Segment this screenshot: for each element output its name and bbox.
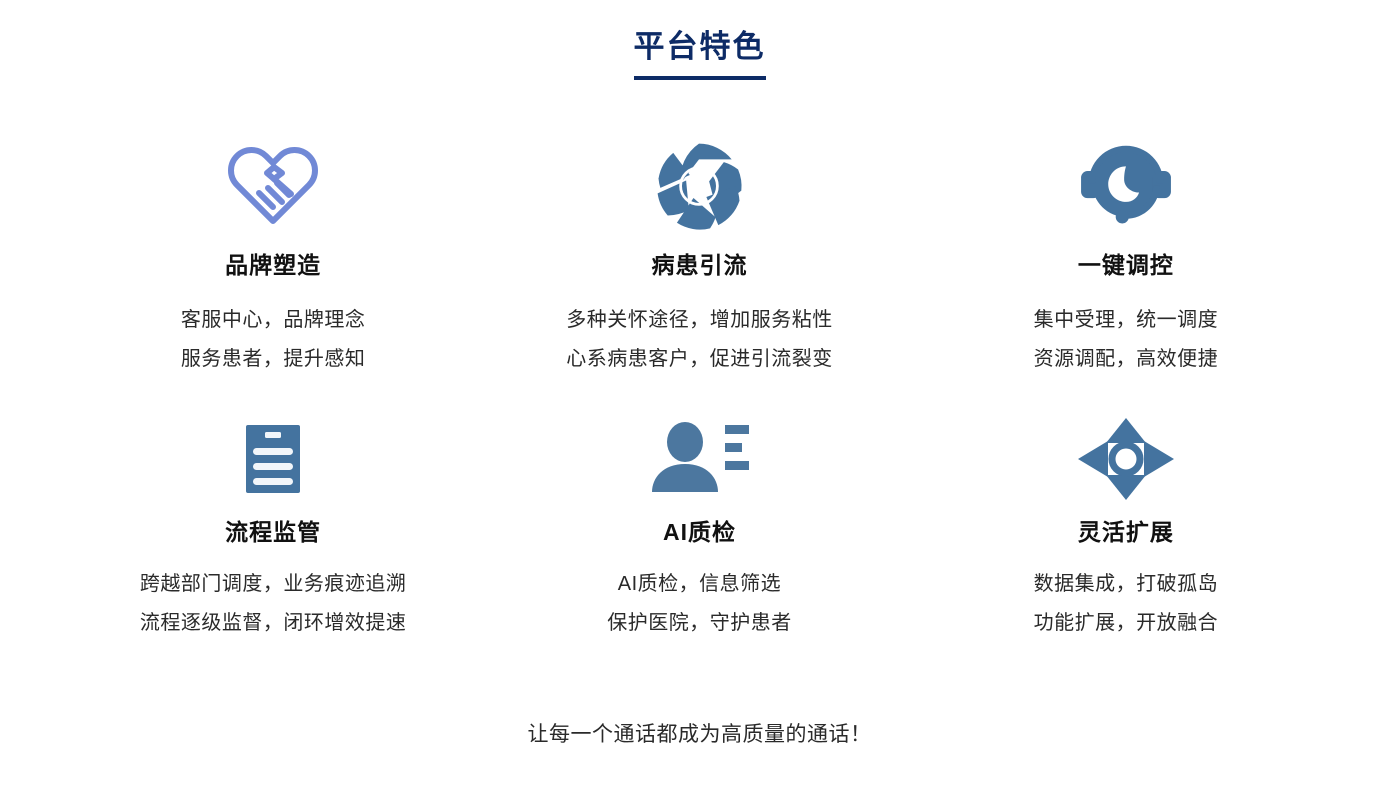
feature-card-process-supervision[interactable]: 流程监管 跨越部门调度，业务痕迹追溯 流程逐级监督，闭环增效提速 <box>60 415 486 643</box>
feature-desc-line: 保护医院，守护患者 <box>607 604 792 643</box>
feature-card-description: 数据集成，打破孤岛 功能扩展，开放融合 <box>1034 565 1219 643</box>
clipboard-icon <box>245 415 301 503</box>
feature-card-flexible-expansion[interactable]: 灵活扩展 数据集成，打破孤岛 功能扩展，开放融合 <box>913 415 1339 643</box>
feature-desc-line: 心系病患客户，促进引流裂变 <box>566 340 833 379</box>
feature-desc-line: 数据集成，打破孤岛 <box>1034 565 1219 604</box>
feature-desc-line: 流程逐级监督，闭环增效提速 <box>140 604 407 643</box>
handshake-heart-icon <box>225 138 321 234</box>
feature-card-description: 跨越部门调度，业务痕迹追溯 流程逐级监督，闭环增效提速 <box>140 565 407 643</box>
feature-card-title: 灵活扩展 <box>1078 519 1174 547</box>
feature-desc-line: 跨越部门调度，业务痕迹追溯 <box>140 565 407 604</box>
feature-desc-line: 集中受理，统一调度 <box>1034 301 1219 340</box>
page-title: 平台特色 <box>634 28 766 80</box>
feature-card-patient-flow[interactable]: 病患引流 多种关怀途径，增加服务粘性 心系病患客户，促进引流裂变 <box>486 138 912 380</box>
feature-card-one-key-control[interactable]: 一键调控 集中受理，统一调度 资源调配，高效便捷 <box>913 138 1339 380</box>
aperture-icon <box>653 138 745 234</box>
feature-grid: 品牌塑造 客服中心，品牌理念 服务患者，提升感知 <box>0 138 1399 643</box>
feature-card-description: 集中受理，统一调度 资源调配，高效便捷 <box>1034 301 1219 379</box>
feature-card-brand[interactable]: 品牌塑造 客服中心，品牌理念 服务患者，提升感知 <box>60 138 486 380</box>
user-record-icon <box>649 415 749 503</box>
feature-card-title: AI质检 <box>663 519 736 547</box>
feature-card-title: 品牌塑造 <box>225 252 321 280</box>
page-title-section: 平台特色 <box>0 0 1399 80</box>
feature-card-title: 病患引流 <box>651 252 747 280</box>
feature-card-ai-inspection[interactable]: AI质检 AI质检，信息筛选 保护医院，守护患者 <box>486 415 912 643</box>
feature-card-description: 客服中心，品牌理念 服务患者，提升感知 <box>181 301 366 379</box>
feature-desc-line: 资源调配，高效便捷 <box>1034 340 1219 379</box>
feature-desc-line: 功能扩展，开放融合 <box>1034 604 1219 643</box>
feature-card-description: 多种关怀途径，增加服务粘性 心系病患客户，促进引流裂变 <box>566 301 833 379</box>
platform-features-page: 平台特色 品牌塑造 客服中心，品牌理念 服务患者，提升感知 <box>0 0 1399 786</box>
feature-desc-line: 客服中心，品牌理念 <box>181 301 366 340</box>
feature-card-description: AI质检，信息筛选 保护医院，守护患者 <box>607 565 792 643</box>
feature-desc-line: AI质检，信息筛选 <box>607 565 792 604</box>
footer-slogan: 让每一个通话都成为高质量的通话！ <box>0 718 1399 748</box>
four-arrows-expand-icon <box>1076 415 1176 503</box>
headset-support-icon <box>1079 138 1173 234</box>
feature-desc-line: 服务患者，提升感知 <box>181 340 366 379</box>
feature-desc-line: 多种关怀途径，增加服务粘性 <box>566 301 833 340</box>
feature-card-title: 流程监管 <box>225 519 321 547</box>
feature-card-title: 一键调控 <box>1078 252 1174 280</box>
